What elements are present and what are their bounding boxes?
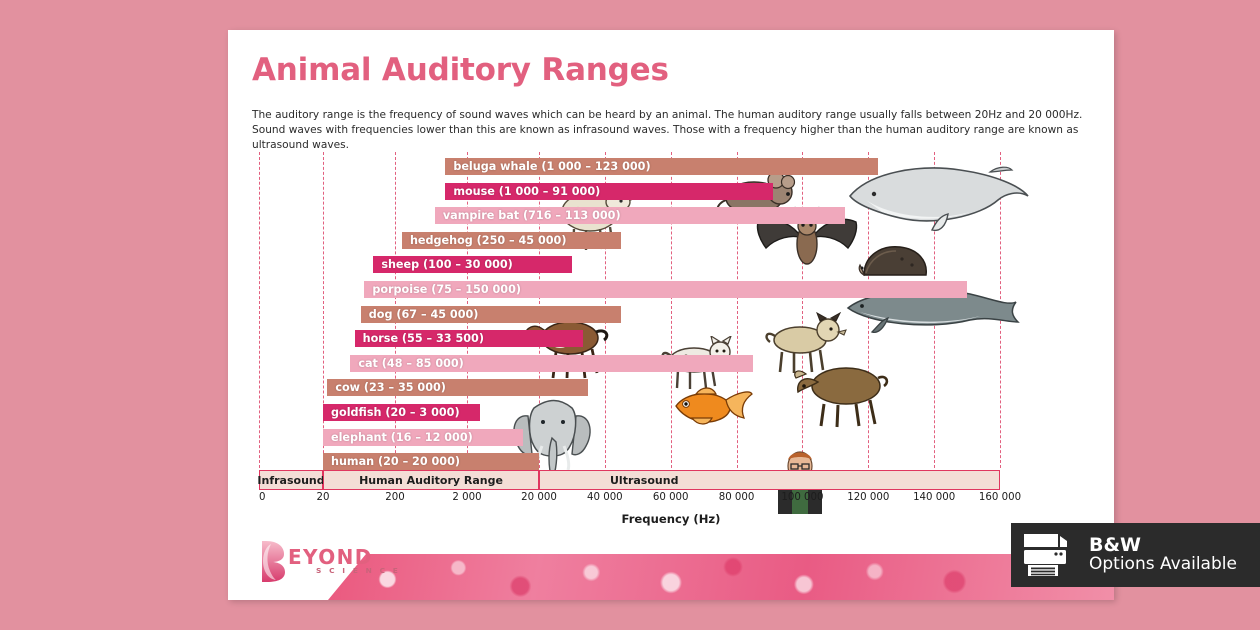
- bar-dog: dog (67 – 45 000): [361, 306, 622, 323]
- x-tick: 80 000: [719, 492, 755, 503]
- bar-porpoise: porpoise (75 – 150 000): [364, 281, 967, 298]
- x-tick: 160 000: [979, 492, 1021, 503]
- bar-label: porpoise (75 – 150 000): [364, 283, 529, 296]
- bar-label: cow (23 – 35 000): [327, 381, 454, 394]
- x-axis-label: Frequency (Hz): [252, 512, 1090, 526]
- frequency-region-bands: InfrasoundHuman Auditory RangeUltrasound: [252, 470, 1090, 490]
- x-tick: 140 000: [913, 492, 955, 503]
- badge-subtitle: Options Available: [1089, 556, 1237, 574]
- bw-options-badge[interactable]: B&W Options Available: [1011, 523, 1260, 587]
- bar-beluga-whale: beluga whale (1 000 – 123 000): [445, 158, 878, 175]
- x-tick: 20: [317, 492, 330, 503]
- bar-label: hedgehog (250 – 45 000): [402, 234, 575, 247]
- x-tick: 120 000: [847, 492, 889, 503]
- band-infrasound: Infrasound: [259, 470, 323, 490]
- printer-icon: [1022, 531, 1080, 579]
- logo-subtitle: S C I E N C E: [316, 566, 400, 575]
- x-tick: 40 000: [587, 492, 623, 503]
- x-tick: 60 000: [653, 492, 689, 503]
- chart-bars: beluga whale (1 000 – 123 000)mouse (1 0…: [252, 152, 1090, 468]
- bar-label: dog (67 – 45 000): [361, 308, 487, 321]
- bar-cat: cat (48 – 85 000): [350, 355, 753, 372]
- worksheet-page: Animal Auditory Ranges The auditory rang…: [228, 30, 1114, 600]
- bar-sheep: sheep (100 – 30 000): [373, 256, 572, 273]
- bar-label: mouse (1 000 – 91 000): [445, 185, 608, 198]
- intro-paragraph: The auditory range is the frequency of s…: [252, 108, 1088, 154]
- badge-text: B&W Options Available: [1089, 536, 1237, 574]
- bar-label: sheep (100 – 30 000): [373, 258, 520, 271]
- bar-label: vampire bat (716 – 113 000): [435, 209, 629, 222]
- x-tick: 0: [259, 492, 265, 503]
- band-human-auditory-range: Human Auditory Range: [323, 470, 539, 490]
- band-ultrasound: Ultrasound: [539, 470, 1000, 490]
- x-tick: 20 000: [521, 492, 557, 503]
- bar-vampire-bat: vampire bat (716 – 113 000): [435, 207, 845, 224]
- beyond-science-logo[interactable]: EYOND S C I E N C E: [254, 535, 404, 585]
- x-tick: 200: [385, 492, 404, 503]
- bar-human: human (20 – 20 000): [323, 453, 539, 470]
- bar-hedgehog: hedgehog (250 – 45 000): [402, 232, 621, 249]
- bar-label: cat (48 – 85 000): [350, 357, 471, 370]
- auditory-range-chart: beluga whale (1 000 – 123 000)mouse (1 0…: [252, 152, 1090, 490]
- page-title: Animal Auditory Ranges: [252, 52, 669, 88]
- bar-mouse: mouse (1 000 – 91 000): [445, 183, 772, 200]
- bar-label: beluga whale (1 000 – 123 000): [445, 160, 658, 173]
- x-tick: 100 000: [781, 492, 823, 503]
- bar-label: human (20 – 20 000): [323, 455, 468, 468]
- x-tick: 2 000: [452, 492, 481, 503]
- badge-title: B&W: [1089, 536, 1237, 556]
- x-axis-ticks: 0202002 00020 00040 00060 00080 000100 0…: [252, 492, 1090, 510]
- bar-cow: cow (23 – 35 000): [327, 379, 588, 396]
- bar-label: horse (55 – 33 500): [355, 332, 492, 345]
- bar-label: goldfish (20 – 3 000): [323, 406, 468, 419]
- bar-elephant: elephant (16 – 12 000): [323, 429, 523, 446]
- bar-horse: horse (55 – 33 500): [355, 330, 584, 347]
- bar-label: elephant (16 – 12 000): [323, 431, 481, 444]
- bar-goldfish: goldfish (20 – 3 000): [323, 404, 480, 421]
